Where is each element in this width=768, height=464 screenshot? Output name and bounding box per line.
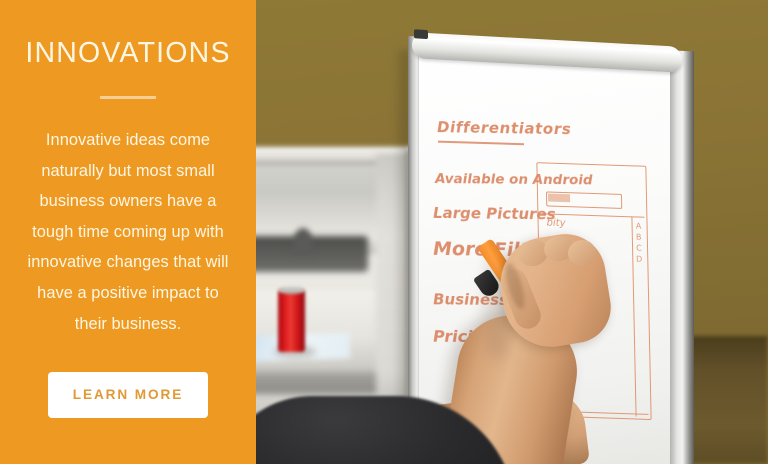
index-letter-b: B (636, 231, 642, 242)
innovations-banner: INNOVATIONS Innovative ideas come natura… (0, 0, 768, 464)
page-title: INNOVATIONS (14, 36, 242, 70)
soda-can (278, 290, 305, 352)
learn-more-button[interactable]: LEARN MORE (48, 372, 208, 418)
office-whiteboard-photo: Differentiators Available on Android Lar… (256, 0, 768, 464)
index-letter-a: A (635, 220, 641, 231)
handwriting-heading-underline (438, 141, 524, 145)
promo-panel: INNOVATIONS Innovative ideas come natura… (0, 0, 256, 464)
board-paper-clip (414, 29, 428, 39)
monitor-arm (256, 236, 368, 272)
handwriting-heading: Differentiators (437, 118, 572, 138)
wireframe-label: bity (547, 217, 566, 229)
index-letter-c: C (636, 242, 642, 253)
cta-container: LEARN MORE (14, 372, 242, 418)
title-divider (100, 96, 156, 99)
board-frame-right (670, 50, 694, 464)
monitor-post (294, 228, 312, 254)
wireframe-search-icon (548, 194, 570, 203)
promo-description: Innovative ideas come naturally but most… (22, 125, 234, 339)
index-letter-d: D (636, 253, 642, 264)
soda-can-lid (278, 286, 305, 294)
wireframe-alpha-index: A B C D (635, 220, 642, 264)
